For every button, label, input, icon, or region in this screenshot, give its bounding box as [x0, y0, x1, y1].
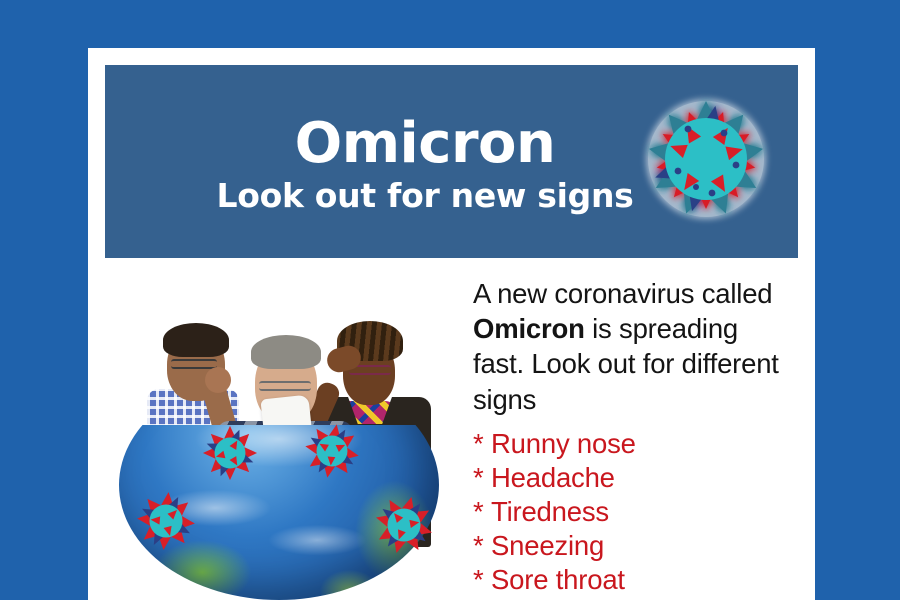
- bullet-marker: *: [473, 427, 491, 461]
- lead-bold-omicron: Omicron: [473, 313, 585, 344]
- lead-paragraph: A new coronavirus called Omicron is spre…: [473, 276, 795, 417]
- bullet-marker: *: [473, 461, 491, 495]
- list-item: *Sore throat: [473, 563, 795, 597]
- sign-label: Runny nose: [491, 428, 636, 459]
- coronavirus-particle: [303, 422, 361, 480]
- list-item: *Tiredness: [473, 495, 795, 529]
- symptoms-photo-collage: [105, 262, 457, 600]
- bullet-marker: *: [473, 495, 491, 529]
- sign-label: Sneezing: [491, 530, 604, 561]
- coronavirus-particle: [201, 424, 259, 482]
- coronavirus-particle: [373, 494, 435, 556]
- bullet-marker: *: [473, 563, 491, 597]
- coronavirus-particle: [135, 490, 197, 552]
- bullet-marker: *: [473, 529, 491, 563]
- list-item: *Runny nose: [473, 427, 795, 461]
- page-subtitle: Look out for new signs: [217, 178, 634, 214]
- list-item: *Headache: [473, 461, 795, 495]
- list-item: *Sneezing: [473, 529, 795, 563]
- lead-before-bold: A new coronavirus called: [473, 278, 772, 309]
- sign-label: Sore throat: [491, 564, 625, 595]
- glasses-icon: [259, 381, 311, 391]
- content-area: A new coronavirus called Omicron is spre…: [105, 262, 798, 600]
- text-column: A new coronavirus called Omicron is spre…: [473, 276, 795, 597]
- page-title: Omicron: [295, 115, 556, 172]
- glasses-icon: [171, 359, 217, 369]
- hair: [251, 335, 321, 369]
- symptoms-list: *Runny nose *Headache *Tiredness *Sneezi…: [473, 427, 795, 597]
- header-banner: Omicron Look out for new signs: [105, 65, 798, 258]
- coronavirus-icon: [626, 79, 786, 239]
- sign-label: Headache: [491, 462, 615, 493]
- sign-label: Tiredness: [491, 496, 609, 527]
- poster-root: Omicron Look out for new signs: [0, 0, 900, 600]
